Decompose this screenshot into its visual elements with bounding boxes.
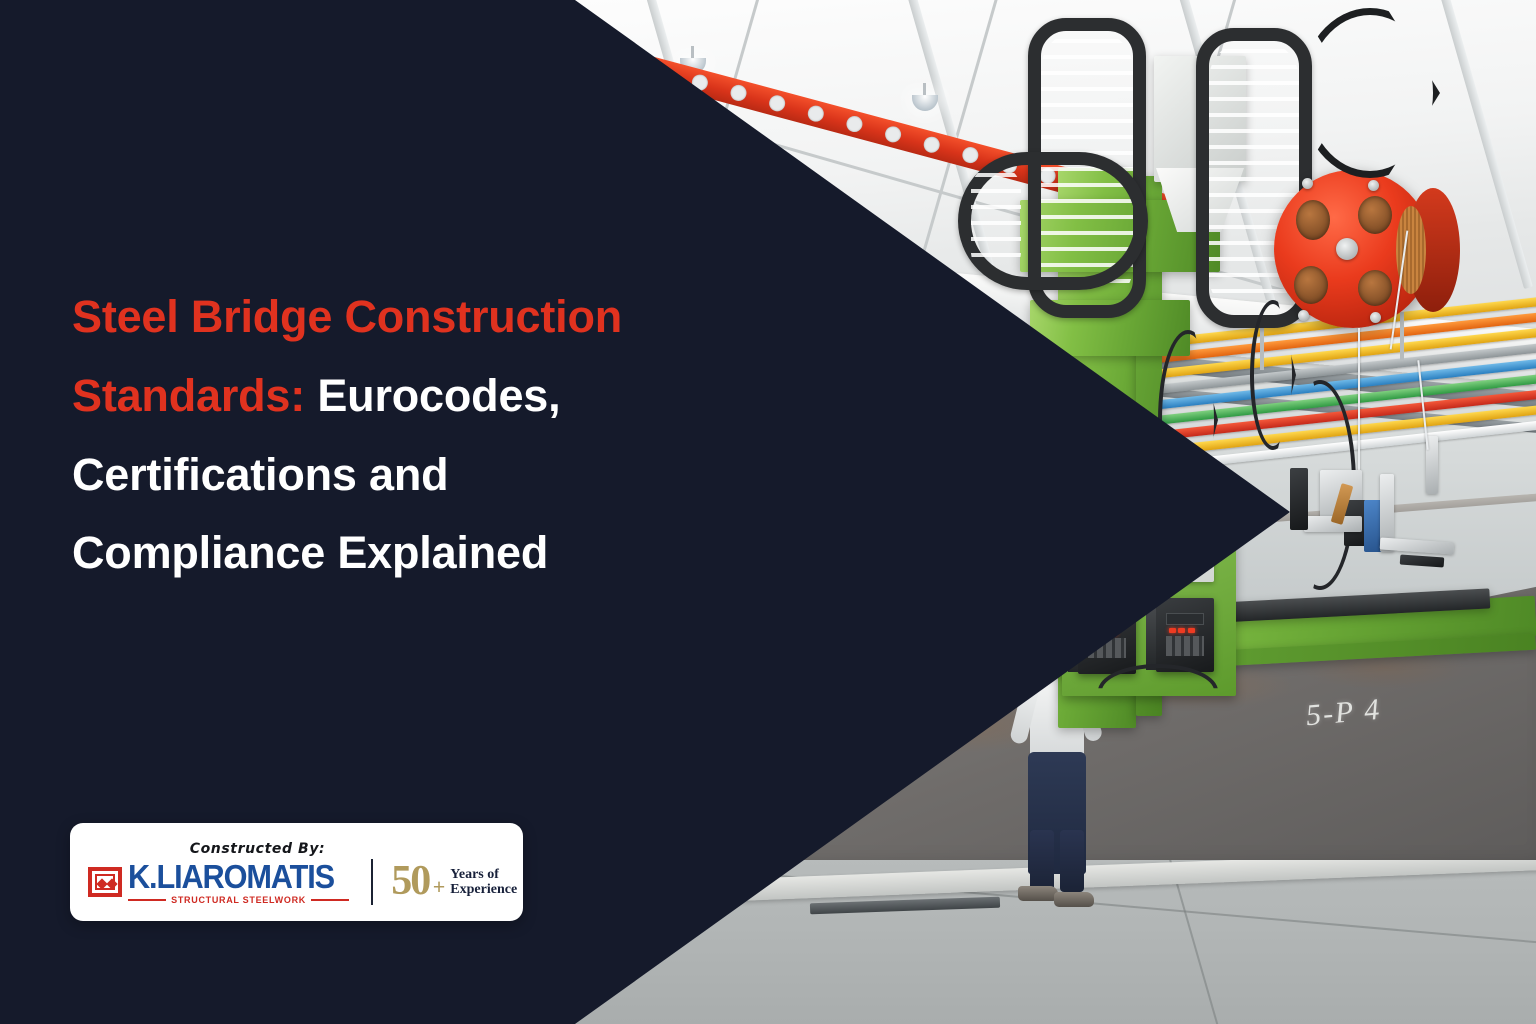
steelwork-mark-icon bbox=[88, 867, 122, 897]
company-logo[interactable]: K.LIAROMATIS STRUCTURAL STEELWORK bbox=[76, 860, 349, 905]
company-tagline: STRUCTURAL STEELWORK bbox=[171, 895, 306, 905]
company-name: K.LIAROMATIS bbox=[128, 860, 334, 893]
years-label-line2: Experience bbox=[450, 882, 517, 897]
headline-accent-line1: Steel Bridge Construction bbox=[72, 291, 622, 342]
page-title: Steel Bridge Construction Standards: Eur… bbox=[72, 278, 732, 593]
years-label: Years of Experience bbox=[450, 867, 517, 898]
years-number: 50 bbox=[391, 858, 429, 904]
years-label-line1: Years of bbox=[450, 867, 499, 882]
worker-boot-left bbox=[1018, 886, 1058, 901]
tagline-rule-right bbox=[311, 899, 349, 901]
constructed-by-badge: Constructed By: K.LIAROMATIS STRUCTURAL … bbox=[70, 823, 523, 921]
tagline-rule-left bbox=[128, 899, 166, 901]
headline-white-line3: Certifications and bbox=[72, 449, 448, 500]
welding-inverter-left bbox=[1078, 600, 1136, 674]
blog-hero-banner: 5-P 4 bbox=[0, 0, 1536, 1024]
key-switch[interactable] bbox=[1186, 552, 1199, 558]
emergency-stop-knob[interactable] bbox=[1188, 518, 1200, 530]
chalk-marking: 5-P 4 bbox=[1305, 693, 1383, 733]
years-experience-block: 50 + Years of Experience bbox=[391, 863, 517, 901]
hmi-touchscreen[interactable] bbox=[1088, 504, 1170, 568]
years-plus: + bbox=[433, 877, 444, 897]
welding-inverter-right bbox=[1156, 598, 1214, 672]
worker-boot-right bbox=[1054, 892, 1094, 907]
badge-divider bbox=[371, 859, 373, 905]
headline-accent-line2: Standards: bbox=[72, 370, 305, 421]
company-logo-text: K.LIAROMATIS STRUCTURAL STEELWORK bbox=[128, 860, 349, 905]
company-tagline-row: STRUCTURAL STEELWORK bbox=[128, 895, 349, 905]
headline-white-line2: Eurocodes, bbox=[305, 370, 560, 421]
badge-kicker: Constructed By: bbox=[190, 841, 326, 857]
headline-white-line4: Compliance Explained bbox=[72, 527, 548, 578]
years-number-wrap: 50 + bbox=[391, 863, 429, 901]
welding-wire bbox=[1358, 328, 1360, 478]
badge-row: K.LIAROMATIS STRUCTURAL STEELWORK 50 + Y… bbox=[76, 859, 517, 905]
